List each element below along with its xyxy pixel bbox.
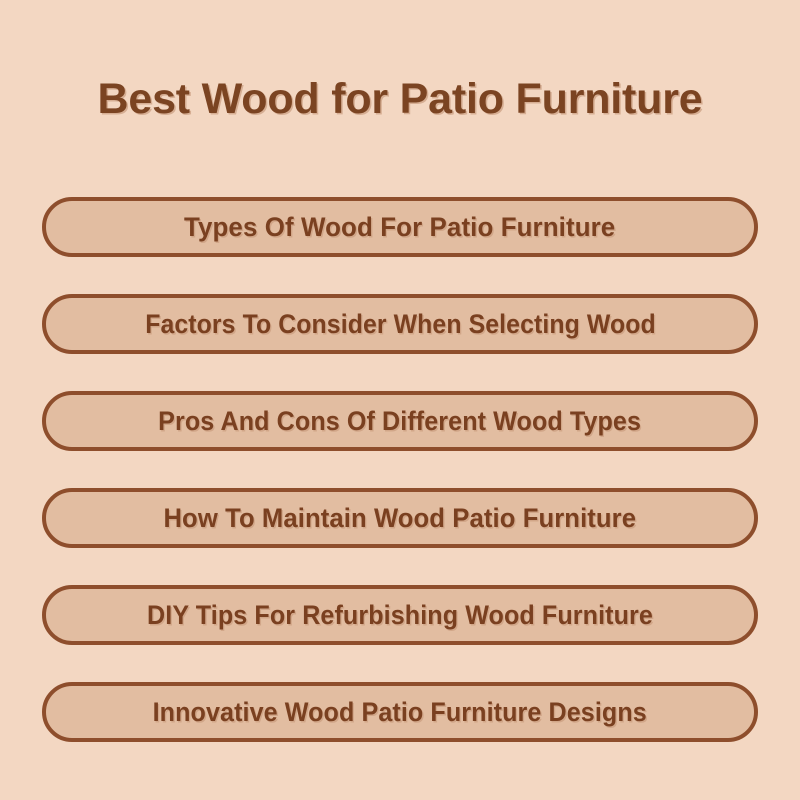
list-item-innovative-designs[interactable]: Innovative Wood Patio Furniture Designs (42, 682, 758, 742)
topic-list: Types Of Wood For Patio Furniture Factor… (42, 197, 758, 742)
list-item-label: Types Of Wood For Patio Furniture (184, 214, 615, 241)
list-item-label: Innovative Wood Patio Furniture Designs (153, 699, 647, 726)
list-item-types-of-wood[interactable]: Types Of Wood For Patio Furniture (42, 197, 758, 257)
page-title: Best Wood for Patio Furniture (0, 75, 800, 124)
list-item-label: DIY Tips For Refurbishing Wood Furniture (147, 602, 653, 629)
list-item-how-to-maintain[interactable]: How To Maintain Wood Patio Furniture (42, 488, 758, 548)
infographic-canvas: Best Wood for Patio Furniture Types Of W… (0, 0, 800, 800)
list-item-label: Pros And Cons Of Different Wood Types (159, 408, 642, 435)
list-item-factors-to-consider[interactable]: Factors To Consider When Selecting Wood (42, 294, 758, 354)
list-item-label: Factors To Consider When Selecting Wood (145, 311, 656, 338)
list-item-diy-tips[interactable]: DIY Tips For Refurbishing Wood Furniture (42, 585, 758, 645)
list-item-pros-and-cons[interactable]: Pros And Cons Of Different Wood Types (42, 391, 758, 451)
list-item-label: How To Maintain Wood Patio Furniture (164, 505, 637, 532)
